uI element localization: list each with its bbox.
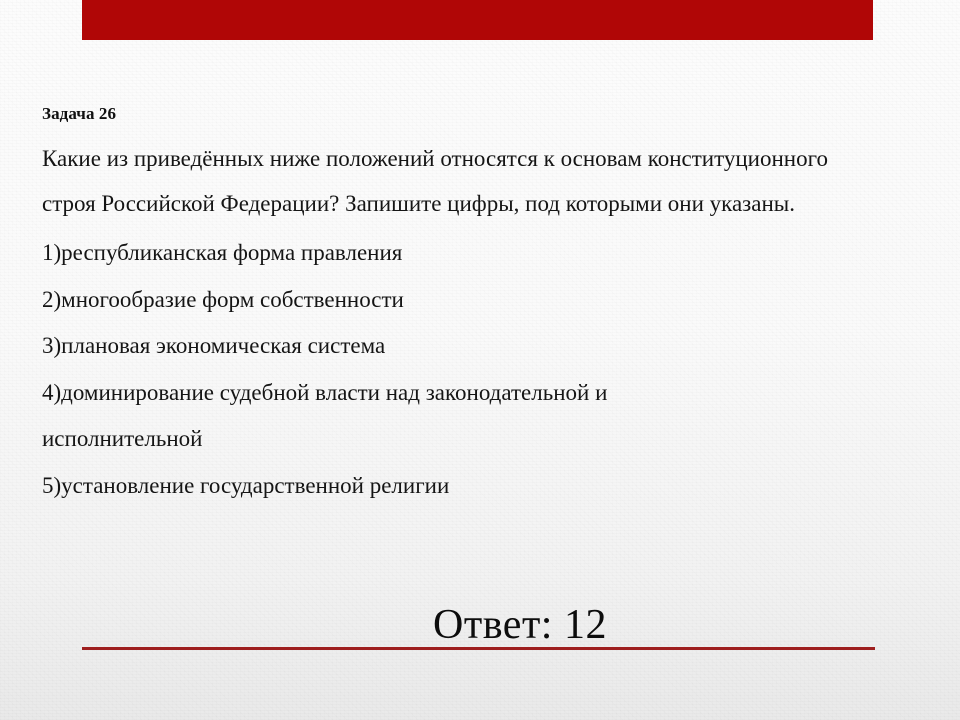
option-item-3: 3)плановая экономическая система — [42, 323, 922, 370]
option-item-5: 5)установление государственной религии — [42, 463, 922, 510]
option-item-1: 1)республиканская форма правления — [42, 230, 922, 277]
answer-text: Ответ: 12 — [0, 602, 960, 648]
option-item-4: 4)доминирование судебной власти над зако… — [42, 370, 922, 417]
question-text: Какие из приведённых ниже положений отно… — [42, 136, 832, 226]
option-item-4-continuation: исполнительной — [42, 416, 922, 463]
bottom-red-rule — [82, 647, 875, 650]
options-list: 1)республиканская форма правления 2)мног… — [42, 230, 922, 509]
slide-canvas: Задача 26 Какие из приведённых ниже поло… — [0, 0, 960, 720]
option-item-2: 2)многообразие форм собственности — [42, 277, 922, 324]
task-label: Задача 26 — [42, 104, 922, 124]
top-red-banner — [82, 0, 873, 40]
slide-content: Задача 26 Какие из приведённых ниже поло… — [42, 104, 922, 509]
